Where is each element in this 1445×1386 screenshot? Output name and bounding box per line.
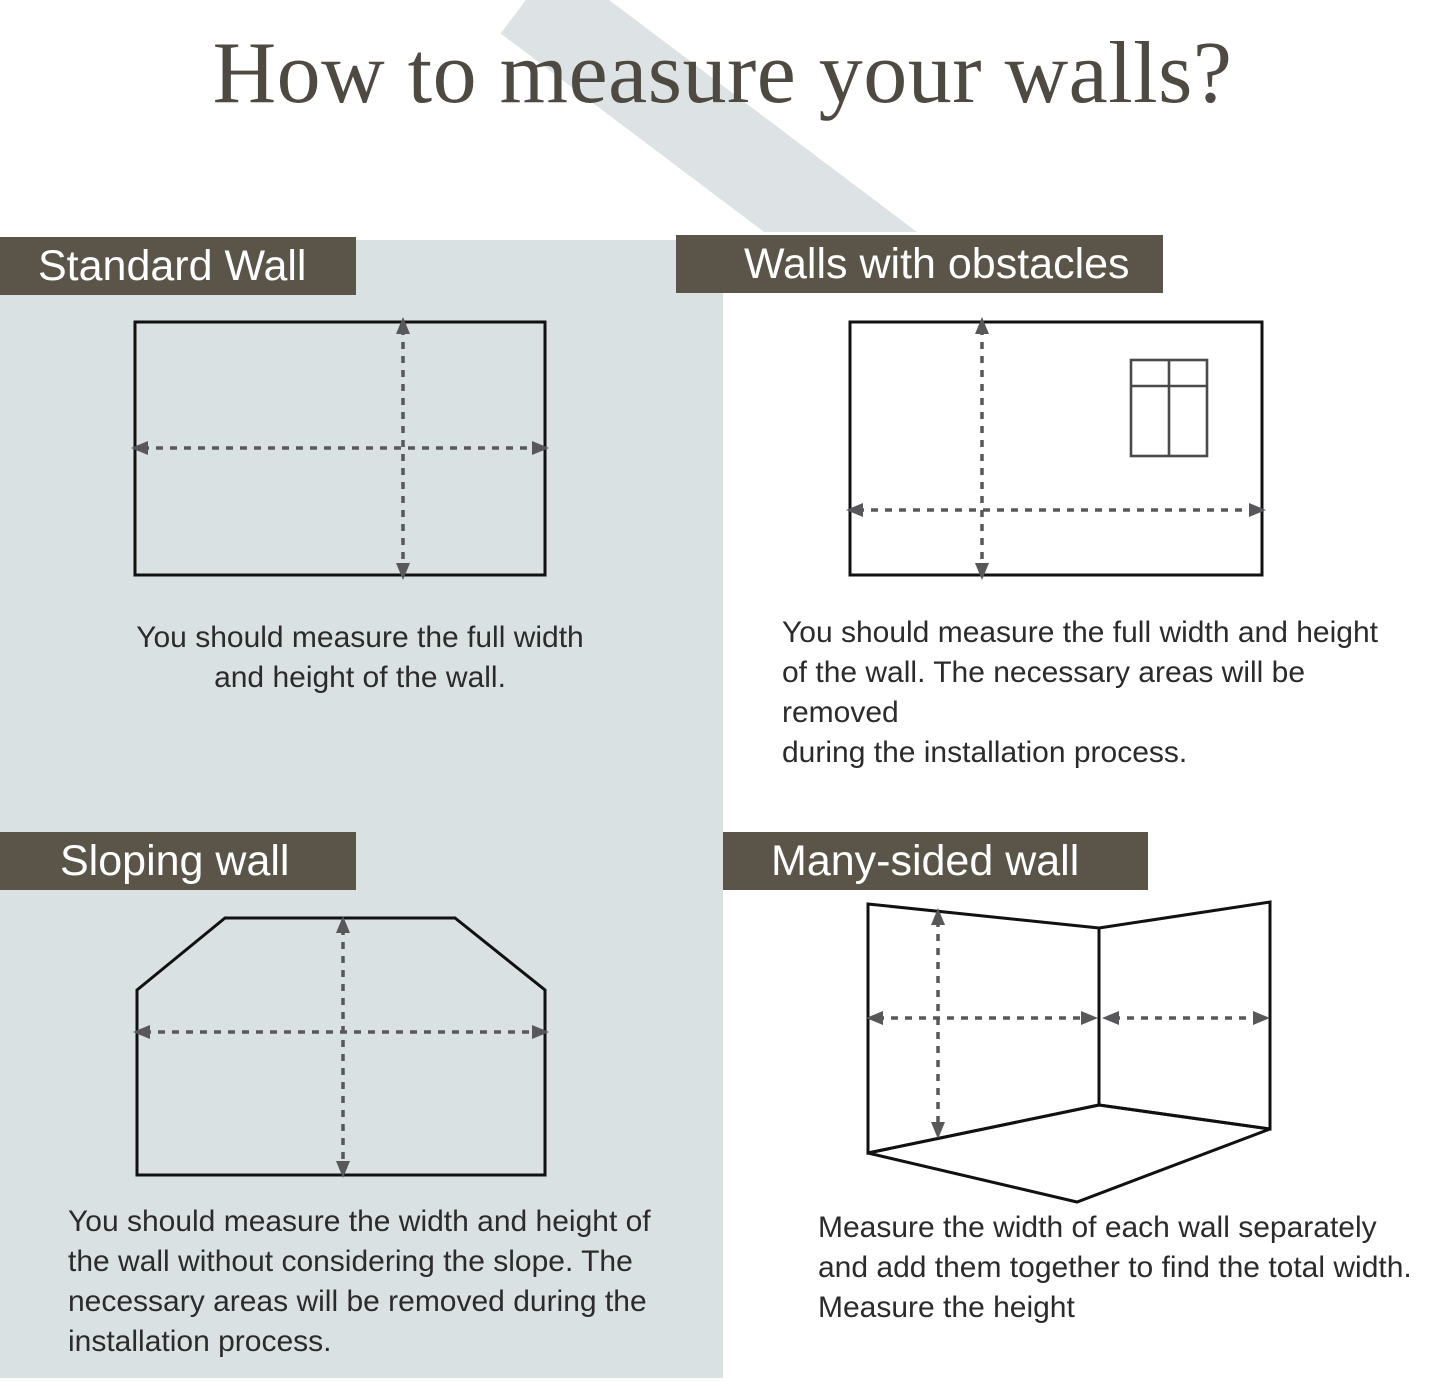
height-dimension-arrow: [336, 916, 350, 1178]
standard-wall-diagram: [120, 305, 570, 595]
section-heading-sloping-wall: Sloping wall: [0, 832, 356, 890]
left-wall-face: [868, 904, 1099, 1153]
wall-with-window-diagram: [835, 305, 1285, 595]
width-dimension-arrow-wall-2: [1102, 1011, 1270, 1025]
infographic-root: How to measure your walls? Standard Wall…: [0, 0, 1445, 1386]
floor-face: [868, 1105, 1270, 1202]
caption-many-sided-wall: Measure the width of each wall separatel…: [818, 1208, 1428, 1328]
section-heading-walls-with-obstacles: Walls with obstacles: [676, 235, 1163, 293]
width-dimension-arrow-wall-1: [866, 1011, 1098, 1025]
sloping-wall-diagram: [120, 900, 570, 1195]
caption-sloping-wall: You should measure the width and height …: [68, 1202, 668, 1362]
caption-standard-wall: You should measure the full width and he…: [60, 618, 660, 698]
section-heading-standard-wall: Standard Wall: [0, 237, 356, 295]
width-dimension-arrow: [846, 503, 1266, 517]
width-dimension-arrow: [133, 1025, 549, 1039]
page-title: How to measure your walls?: [0, 28, 1445, 120]
caption-walls-with-obstacles: You should measure the full width and he…: [782, 613, 1422, 773]
sloped-wall-outline: [137, 918, 545, 1175]
height-dimension-arrow: [931, 908, 945, 1139]
height-dimension-arrow: [975, 317, 989, 580]
corner-room-diagram: [845, 890, 1295, 1215]
section-heading-many-sided-wall: Many-sided wall: [723, 832, 1148, 890]
right-wall-face: [1099, 902, 1270, 1129]
width-dimension-arrow: [131, 441, 549, 455]
window-obstacle-icon: [1131, 360, 1207, 456]
